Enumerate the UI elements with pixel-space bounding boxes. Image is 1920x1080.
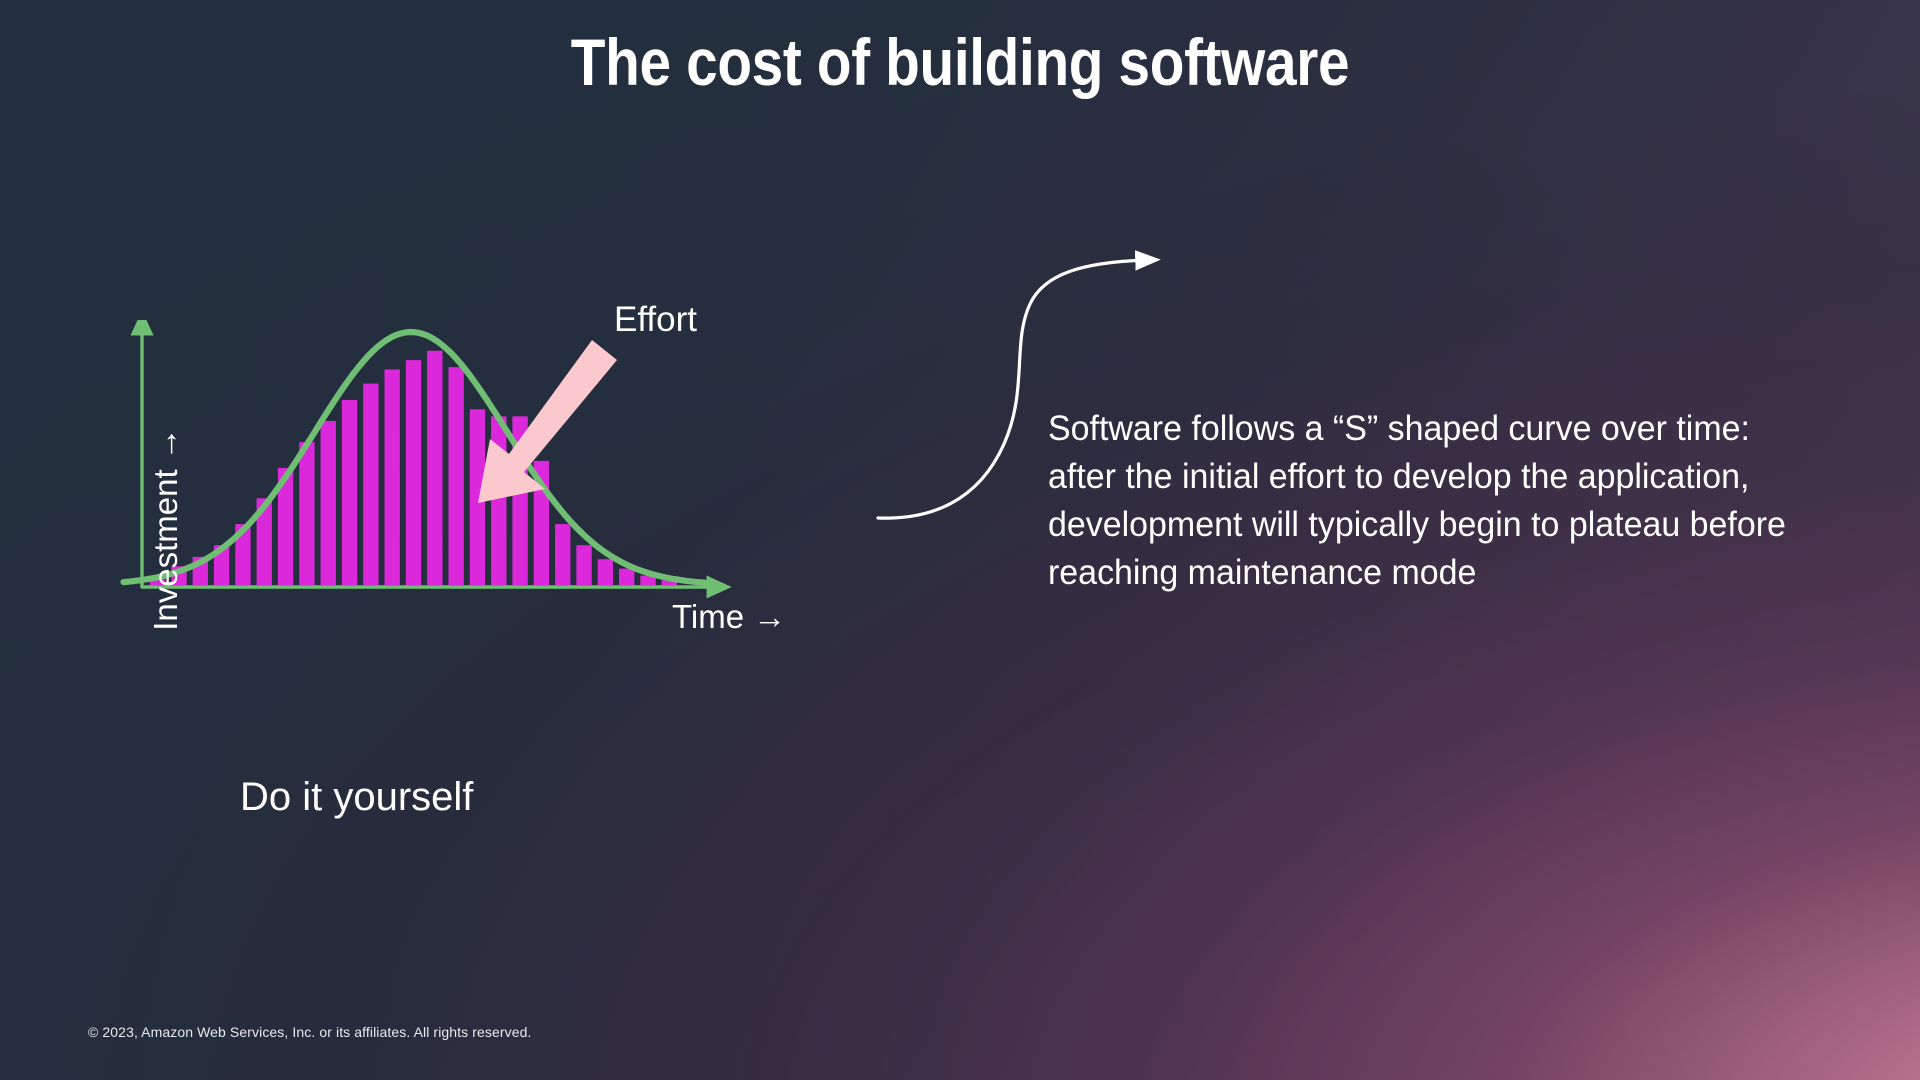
chart-bar [448, 367, 463, 585]
chart-bar [406, 360, 421, 585]
chart-bar [363, 384, 378, 585]
chart-bar [619, 569, 634, 585]
chart-bar [598, 559, 613, 585]
chart-bar [491, 416, 506, 585]
chart-bar [385, 369, 400, 585]
y-axis-label: Investment → [147, 399, 185, 659]
x-axis-label: Time → [672, 598, 786, 636]
page-title: The cost of building software [134, 24, 1785, 100]
chart-bar [299, 442, 314, 585]
effort-annotation-label: Effort [614, 300, 697, 340]
chart-bar [342, 400, 357, 585]
explainer-paragraph: Software follows a “S” shaped curve over… [1048, 405, 1795, 597]
chart-bar [555, 524, 570, 585]
slide-canvas: The cost of building software Investment… [0, 0, 1920, 1080]
chart-bar [321, 421, 336, 585]
chart-caption-do-it-yourself: Do it yourself [240, 775, 473, 820]
footer-copyright: © 2023, Amazon Web Services, Inc. or its… [88, 1024, 532, 1040]
chart-bar [576, 545, 591, 585]
chart-bar [427, 351, 442, 585]
bell-curve-chart: Investment → Time → [120, 320, 880, 790]
chart-plot-svg [120, 320, 880, 790]
